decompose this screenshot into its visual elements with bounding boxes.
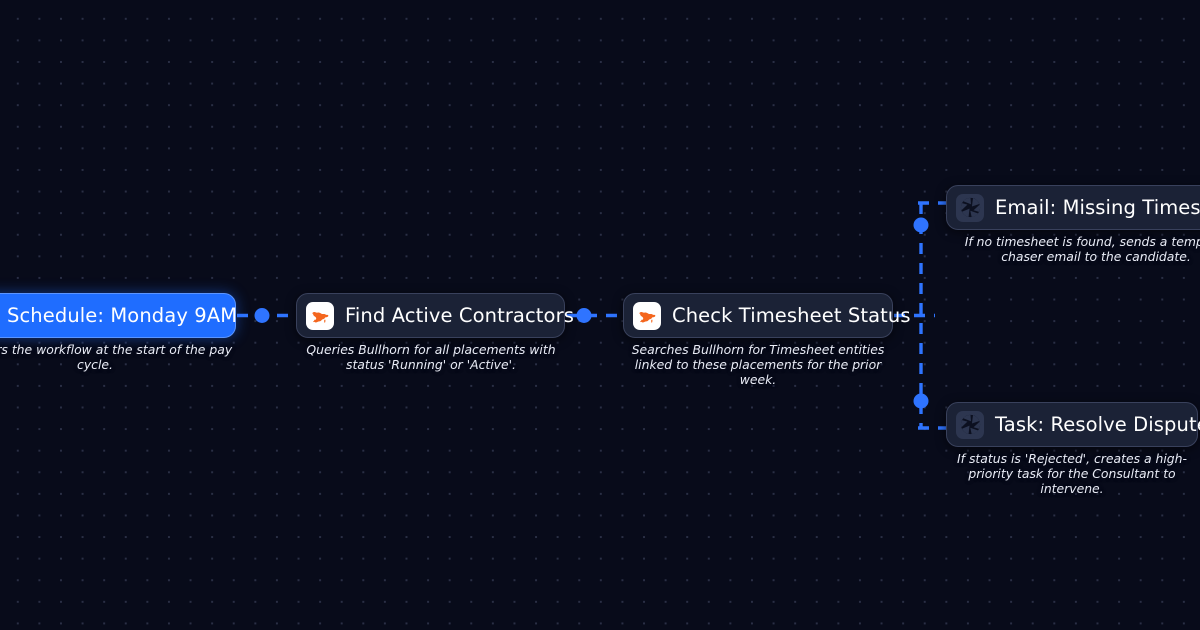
connector-dot-branch-task: [914, 394, 929, 409]
aperture-icon: [956, 411, 984, 439]
workflow-node-task-resolve-dispute[interactable]: Task: Resolve Dispute: [946, 402, 1198, 447]
bullhorn-icon: [633, 302, 661, 330]
node-label-email-missing-timesheet: Email: Missing Timesheet: [995, 198, 1200, 218]
connector-dot-branch-email: [914, 218, 929, 233]
bullhorn-icon: [306, 302, 334, 330]
node-label-find-active-contractors: Find Active Contractors: [345, 306, 574, 326]
workflow-node-check-timesheet-status[interactable]: Check Timesheet Status: [623, 293, 893, 338]
node-label-trigger: Schedule: Monday 9AM: [7, 306, 237, 326]
workflow-node-find-active-contractors[interactable]: Find Active Contractors: [296, 293, 565, 338]
node-description-find-active-contractors: Queries Bullhorn for all placements with…: [296, 342, 566, 372]
connector-dot-find-check: [577, 308, 592, 323]
workflow-node-email-missing-timesheet[interactable]: Email: Missing Timesheet: [946, 185, 1200, 230]
node-description-trigger: Triggers the workflow at the start of th…: [0, 342, 240, 372]
workflow-node-trigger[interactable]: Schedule: Monday 9AM: [0, 293, 236, 338]
node-label-check-timesheet-status: Check Timesheet Status: [672, 306, 911, 326]
node-label-task-resolve-dispute: Task: Resolve Dispute: [995, 415, 1200, 435]
workflow-canvas: Schedule: Monday 9AM Triggers the workfl…: [0, 0, 1200, 630]
node-description-check-timesheet-status: Searches Bullhorn for Timesheet entities…: [621, 342, 895, 387]
connector-dot-trigger-find: [255, 308, 270, 323]
node-description-email-missing-timesheet: If no timesheet is found, sends a templa…: [946, 234, 1200, 264]
aperture-icon: [956, 194, 984, 222]
node-description-task-resolve-dispute: If status is 'Rejected', creates a high-…: [936, 451, 1200, 496]
